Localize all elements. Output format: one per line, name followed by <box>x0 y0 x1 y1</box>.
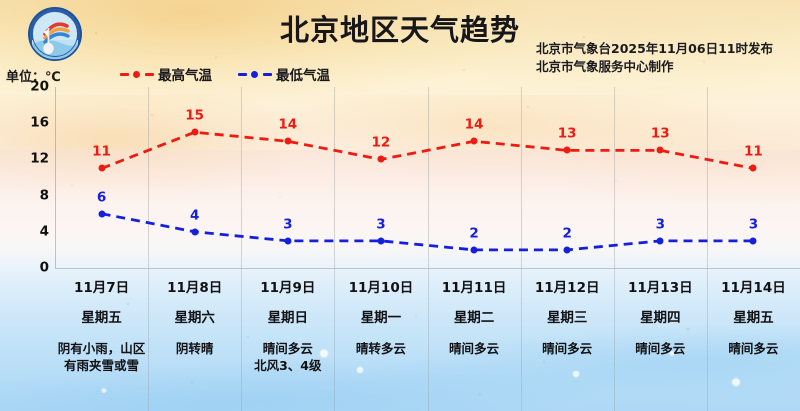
value-label-high-6: 13 <box>651 128 670 142</box>
forecast-day-column-3[interactable]: 11月10日星期一晴转多云 <box>334 276 427 411</box>
data-point-high-0 <box>98 165 105 172</box>
day-weekday: 星期五 <box>81 312 122 326</box>
day-date: 11月13日 <box>628 282 693 296</box>
day-weekday: 星期五 <box>733 312 774 326</box>
day-condition: 阴有小雨，山区有雨夹雪或雪 <box>58 340 146 374</box>
day-weekday: 星期一 <box>361 312 402 326</box>
forecast-day-column-0[interactable]: 11月7日星期五阴有小雨，山区有雨夹雪或雪 <box>55 276 148 411</box>
y-axis-tick-12: 12 <box>30 153 49 167</box>
weather-trend-infographic: 北京地区天气趋势 北京市气象台2025年11月06日11时发布 北京市气象服务中… <box>0 0 800 411</box>
day-weekday: 星期四 <box>640 312 681 326</box>
legend-item-low: 最低气温 <box>238 64 330 84</box>
legend-label-low: 最低气温 <box>276 64 330 84</box>
value-label-high-1: 15 <box>185 110 204 124</box>
legend-marker-high <box>120 69 154 79</box>
value-label-high-3: 12 <box>372 137 391 151</box>
data-point-high-4 <box>471 138 478 145</box>
legend-item-high: 最高气温 <box>120 64 212 84</box>
publisher-line-2: 北京市气象服务中心制作 <box>536 58 796 76</box>
temperature-series-lines <box>55 87 800 268</box>
value-label-low-0: 6 <box>97 191 106 205</box>
data-point-low-6 <box>657 237 664 244</box>
data-point-high-6 <box>657 147 664 154</box>
data-point-high-3 <box>377 156 384 163</box>
day-weekday: 星期三 <box>547 312 588 326</box>
forecast-day-column-6[interactable]: 11月13日星期四晴间多云 <box>614 276 707 411</box>
forecast-day-column-1[interactable]: 11月8日星期六阴转晴 <box>148 276 241 411</box>
day-date: 11月9日 <box>260 282 315 296</box>
forecast-day-columns: 11月7日星期五阴有小雨，山区有雨夹雪或雪11月8日星期六阴转晴11月9日星期日… <box>55 276 800 411</box>
day-condition: 阴转晴 <box>151 340 239 357</box>
value-label-low-1: 4 <box>190 209 199 223</box>
day-date: 11月14日 <box>721 282 786 296</box>
publisher-info: 北京市气象台2025年11月06日11时发布 北京市气象服务中心制作 <box>536 40 796 76</box>
day-date: 11月12日 <box>535 282 600 296</box>
value-label-low-7: 3 <box>749 218 758 232</box>
data-point-low-2 <box>284 237 291 244</box>
forecast-day-column-4[interactable]: 11月11日星期二晴间多云 <box>428 276 521 411</box>
data-point-low-3 <box>377 237 384 244</box>
data-point-high-5 <box>564 147 571 154</box>
legend-label-high: 最高气温 <box>158 64 212 84</box>
data-point-high-1 <box>191 129 198 136</box>
value-label-low-2: 3 <box>283 218 292 232</box>
value-label-high-7: 11 <box>744 146 763 160</box>
value-label-low-4: 2 <box>469 227 478 241</box>
value-label-high-0: 11 <box>92 146 111 160</box>
data-point-low-1 <box>191 228 198 235</box>
data-point-high-2 <box>284 138 291 145</box>
day-condition: 晴间多云 <box>709 340 797 357</box>
day-weekday: 星期日 <box>268 312 309 326</box>
day-date: 11月11日 <box>442 282 507 296</box>
day-condition: 晴间多云 <box>616 340 704 357</box>
data-point-low-5 <box>564 246 571 253</box>
value-label-high-4: 14 <box>465 119 484 133</box>
forecast-day-column-5[interactable]: 11月12日星期三晴间多云 <box>521 276 614 411</box>
forecast-day-column-7[interactable]: 11月14日星期五晴间多云 <box>707 276 800 411</box>
value-label-low-6: 3 <box>656 218 665 232</box>
y-axis-tick-0: 0 <box>40 261 49 275</box>
data-point-low-7 <box>750 237 757 244</box>
data-point-low-4 <box>471 246 478 253</box>
y-axis-tick-4: 4 <box>40 225 49 239</box>
data-point-low-0 <box>98 210 105 217</box>
day-condition: 晴转多云 <box>337 340 425 357</box>
chart-legend: 最高气温 最低气温 <box>120 64 330 84</box>
value-label-low-3: 3 <box>376 218 385 232</box>
day-date: 11月8日 <box>167 282 222 296</box>
y-axis-tick-16: 16 <box>30 116 49 130</box>
y-axis-tick-20: 20 <box>30 80 49 94</box>
data-point-high-7 <box>750 165 757 172</box>
value-label-high-5: 13 <box>558 128 577 142</box>
legend-marker-low <box>238 69 272 79</box>
y-axis-tick-8: 8 <box>40 189 49 203</box>
day-condition: 晴间多云 <box>523 340 611 357</box>
day-date: 11月10日 <box>349 282 414 296</box>
day-weekday: 星期六 <box>174 312 215 326</box>
day-condition: 晴间多云北风3、4级 <box>244 340 332 374</box>
publisher-line-1: 北京市气象台2025年11月06日11时发布 <box>536 40 796 58</box>
value-label-low-5: 2 <box>562 227 571 241</box>
temperature-chart-plot: 201612840 111514121413131164332233 <box>55 87 800 268</box>
day-date: 11月7日 <box>74 282 129 296</box>
day-weekday: 星期二 <box>454 312 495 326</box>
value-label-high-2: 14 <box>278 119 297 133</box>
day-condition: 晴间多云 <box>430 340 518 357</box>
forecast-day-column-2[interactable]: 11月9日星期日晴间多云北风3、4级 <box>241 276 334 411</box>
